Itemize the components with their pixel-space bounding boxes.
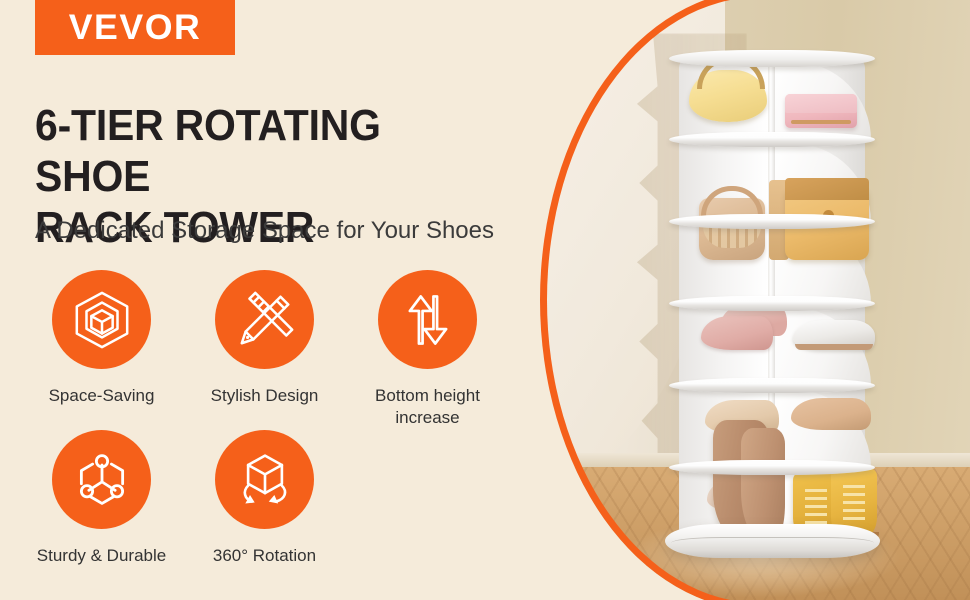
tower-shelf <box>669 378 875 393</box>
tower-divider <box>768 62 775 140</box>
feature-icon-circle <box>215 430 314 529</box>
feature-label: Stylish Design <box>190 385 340 407</box>
item-tan-chain-handbag <box>699 198 765 260</box>
rotating-cube-icon <box>235 450 295 510</box>
headline-line-1: 6-TIER ROTATING SHOE <box>35 100 500 202</box>
hex-box-icon <box>71 289 133 351</box>
feature-spacer <box>346 430 509 590</box>
item-grey-white-sneakers <box>793 320 875 350</box>
feature-space-saving: Space-Saving <box>20 270 183 430</box>
item-tan-leather-loafers <box>791 398 871 430</box>
feature-bottom-height: Bottom height increase <box>346 270 509 430</box>
shoe-rack-tower <box>665 48 880 558</box>
vevor-logo: VEVOR <box>35 0 235 55</box>
room-scene <box>540 0 970 600</box>
item-pink-embellished-heels <box>701 316 773 350</box>
item-boot-laces-left <box>805 484 827 524</box>
tower-shelf <box>669 296 875 311</box>
item-boot-laces-right <box>843 480 865 520</box>
tower-shelf <box>669 50 875 67</box>
feature-label: Sturdy & Durable <box>27 545 177 567</box>
item-pink-quilted-wallet <box>785 94 857 128</box>
feature-label: Space-Saving <box>27 385 177 407</box>
feature-stylish-design: Stylish Design <box>183 270 346 430</box>
pencil-ruler-icon <box>234 289 296 351</box>
molecule-node-icon <box>72 450 132 510</box>
tower-base-seam <box>671 537 874 549</box>
product-photo-clip <box>540 0 970 600</box>
page-subtitle: A Dedicated Storage Space for Your Shoes <box>35 216 555 246</box>
vevor-logo-text: VEVOR <box>69 10 202 45</box>
feature-icon-circle <box>52 430 151 529</box>
item-yellow-hobo-handbag <box>689 70 767 122</box>
feature-360-rotation: 360° Rotation <box>183 430 346 590</box>
feature-label: 360° Rotation <box>190 545 340 567</box>
up-down-arrows-icon <box>399 291 457 349</box>
promo-banner: VEVOR 6-TIER ROTATING SHOE RACK TOWER A … <box>0 0 970 600</box>
tower-shelf <box>669 214 875 229</box>
feature-icon-circle <box>52 270 151 369</box>
feature-sturdy-durable: Sturdy & Durable <box>20 430 183 590</box>
tower-shelf <box>669 460 875 475</box>
feature-label: Bottom height increase <box>353 385 503 429</box>
feature-icon-circle <box>378 270 477 369</box>
tower-shelf <box>669 132 875 147</box>
product-photo <box>540 0 970 600</box>
feature-icon-circle <box>215 270 314 369</box>
feature-list: Space-Saving <box>20 270 540 590</box>
